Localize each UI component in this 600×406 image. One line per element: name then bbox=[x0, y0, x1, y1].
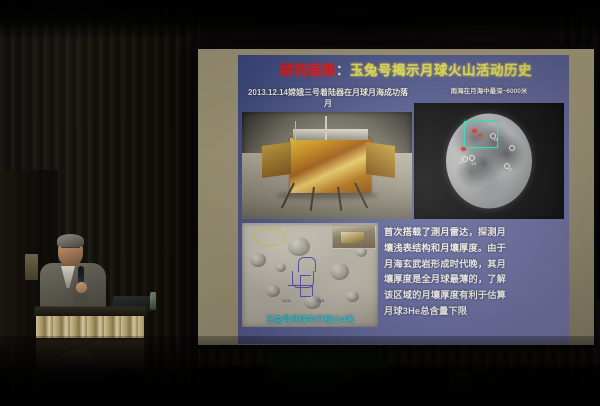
lander-secondary-mast bbox=[295, 121, 297, 140]
speaker-glasses bbox=[61, 247, 80, 252]
lander-solar-panel-right bbox=[366, 142, 395, 178]
foreground-shadow bbox=[0, 336, 600, 406]
landing-zone-ellipse bbox=[254, 228, 286, 246]
crater bbox=[288, 237, 310, 256]
slide-title: 研究结果：玉兔号揭示月球火山活动历史 bbox=[247, 64, 565, 79]
speaker-hair bbox=[57, 234, 84, 247]
change3-lander-photo bbox=[242, 112, 412, 219]
crater bbox=[250, 253, 266, 267]
moon-marker-label: 11 bbox=[508, 167, 513, 172]
body-line: 该区域的月壤厚度有利于估算 bbox=[384, 288, 564, 304]
map-annotation: E208 bbox=[316, 299, 324, 303]
slide-body-text: 首次搭载了测月雷达，探测月 壤浅表结构和月壤厚度。由于 月海玄武岩形成时代晚，其… bbox=[384, 225, 564, 320]
lander-solar-panel-left bbox=[262, 142, 291, 178]
lander-body bbox=[290, 138, 372, 194]
moon-photo-caption: 雨海在月海中最深~6000米 bbox=[414, 88, 564, 96]
lander-deck bbox=[293, 129, 368, 140]
moon-marker-red bbox=[472, 129, 477, 133]
crater bbox=[276, 263, 286, 272]
body-line: 月海玄武岩形成时代晚，其月 bbox=[384, 257, 564, 273]
lander-antenna-mast bbox=[325, 116, 327, 140]
moon-marker-label: 15 bbox=[493, 137, 498, 142]
body-line: 月球3He总含量下限 bbox=[384, 304, 564, 320]
presentation-slide: 研究结果：玉兔号揭示月球火山活动历史 2013.12.14嫦娥三号着陆器在月球月… bbox=[238, 55, 569, 344]
rover-closeup-inset bbox=[332, 225, 376, 249]
moon-marker-circle bbox=[509, 145, 515, 151]
moon-full-disc-photo: 15 12 14 11 bbox=[414, 103, 564, 219]
lecture-hall-photo: 研究结果：玉兔号揭示月球火山活动历史 2013.12.14嫦娥三号着陆器在月球月… bbox=[0, 0, 600, 406]
rover-track-segment bbox=[300, 275, 311, 297]
map-annotation: N105 bbox=[282, 299, 291, 303]
crater bbox=[330, 263, 349, 280]
body-line: 壤浅表结构和月壤厚度。由于 bbox=[384, 241, 564, 257]
slide-title-separator: ： bbox=[336, 63, 350, 78]
moon-marker-label: 14 bbox=[471, 161, 476, 166]
moon-marker-label: 12 bbox=[458, 160, 463, 165]
slide-title-rest: 玉兔号揭示月球火山活动历史 bbox=[350, 63, 532, 78]
rover-traverse-caption: 玉兔号月球车行程114米 bbox=[242, 314, 378, 325]
body-line: 首次搭载了测月雷达，探测月 bbox=[384, 225, 564, 241]
lander-photo-caption: 2013.12.14嫦娥三号着陆器在月球月海成功落月 bbox=[244, 88, 412, 110]
speaker-hand bbox=[76, 282, 87, 293]
rover-traverse-map: N105 E208 玉兔号月球车行程114米 bbox=[242, 223, 378, 327]
rover-track-segment bbox=[298, 257, 316, 272]
body-line: 壤厚度是全月球最薄的，了解 bbox=[384, 272, 564, 288]
moon-marker-red bbox=[478, 134, 482, 137]
water-bottle bbox=[150, 292, 156, 310]
crater bbox=[346, 291, 359, 302]
podium-decorative-panel bbox=[36, 316, 144, 338]
moon-marker-red bbox=[461, 147, 466, 151]
crater bbox=[266, 285, 280, 297]
ceiling-shadow bbox=[0, 0, 600, 38]
rover-body bbox=[341, 232, 364, 243]
slide-title-highlight: 研究结果 bbox=[280, 63, 336, 78]
